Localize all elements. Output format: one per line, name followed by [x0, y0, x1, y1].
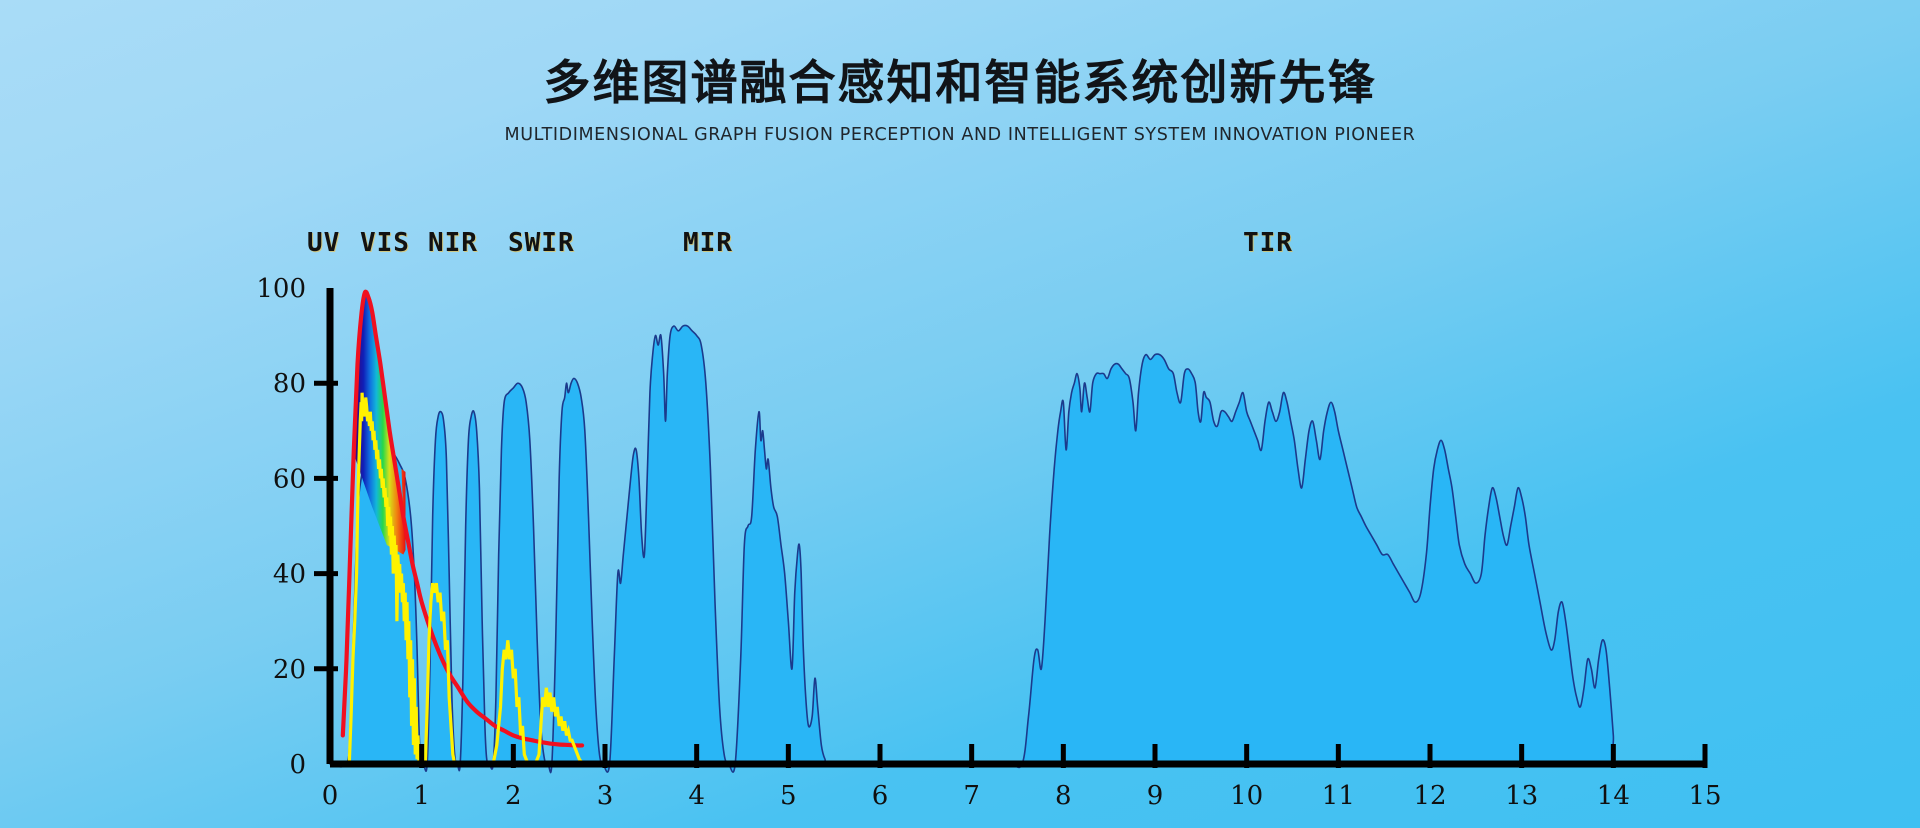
- y-axis-tick-labels: 020406080100: [256, 274, 306, 780]
- y-axis-tick-label: 20: [273, 655, 306, 685]
- x-axis-tick-label: 10: [1230, 781, 1263, 811]
- x-axis-tick-label: 0: [322, 781, 339, 811]
- x-axis-tick-label: 6: [872, 781, 889, 811]
- plot-area: [330, 282, 1705, 773]
- y-axis-ticks: [314, 383, 338, 669]
- poster-root: 多维图谱融合感知和智能系统创新先锋 MULTIDIMENSIONAL GRAPH…: [0, 0, 1920, 828]
- y-axis-tick-label: 80: [273, 369, 306, 399]
- x-axis-tick-label: 3: [597, 781, 614, 811]
- x-axis-tick-label: 1: [413, 781, 430, 811]
- x-axis-tick-label: 14: [1597, 781, 1630, 811]
- x-axis-tick-label: 11: [1322, 781, 1355, 811]
- x-axis-tick-label: 8: [1055, 781, 1072, 811]
- x-axis-tick-label: 2: [505, 781, 522, 811]
- y-axis-tick-label: 0: [289, 750, 306, 780]
- y-axis-tick-label: 100: [256, 274, 306, 304]
- x-axis-tick-label: 4: [688, 781, 705, 811]
- x-axis-tick-label: 5: [780, 781, 797, 811]
- y-axis-tick-label: 60: [273, 464, 306, 494]
- x-axis-tick-label: 15: [1688, 781, 1721, 811]
- y-axis-tick-label: 40: [273, 560, 306, 590]
- transmittance-area: [330, 325, 1705, 772]
- x-axis-tick-label: 7: [963, 781, 980, 811]
- x-axis-tick-label: 13: [1505, 781, 1538, 811]
- x-axis-tick-label: 12: [1413, 781, 1446, 811]
- x-axis-tick-labels: 0123456789101112131415: [322, 781, 1722, 811]
- x-axis-tick-label: 9: [1147, 781, 1164, 811]
- spectral-chart: 020406080100 0123456789101112131415: [0, 0, 1920, 828]
